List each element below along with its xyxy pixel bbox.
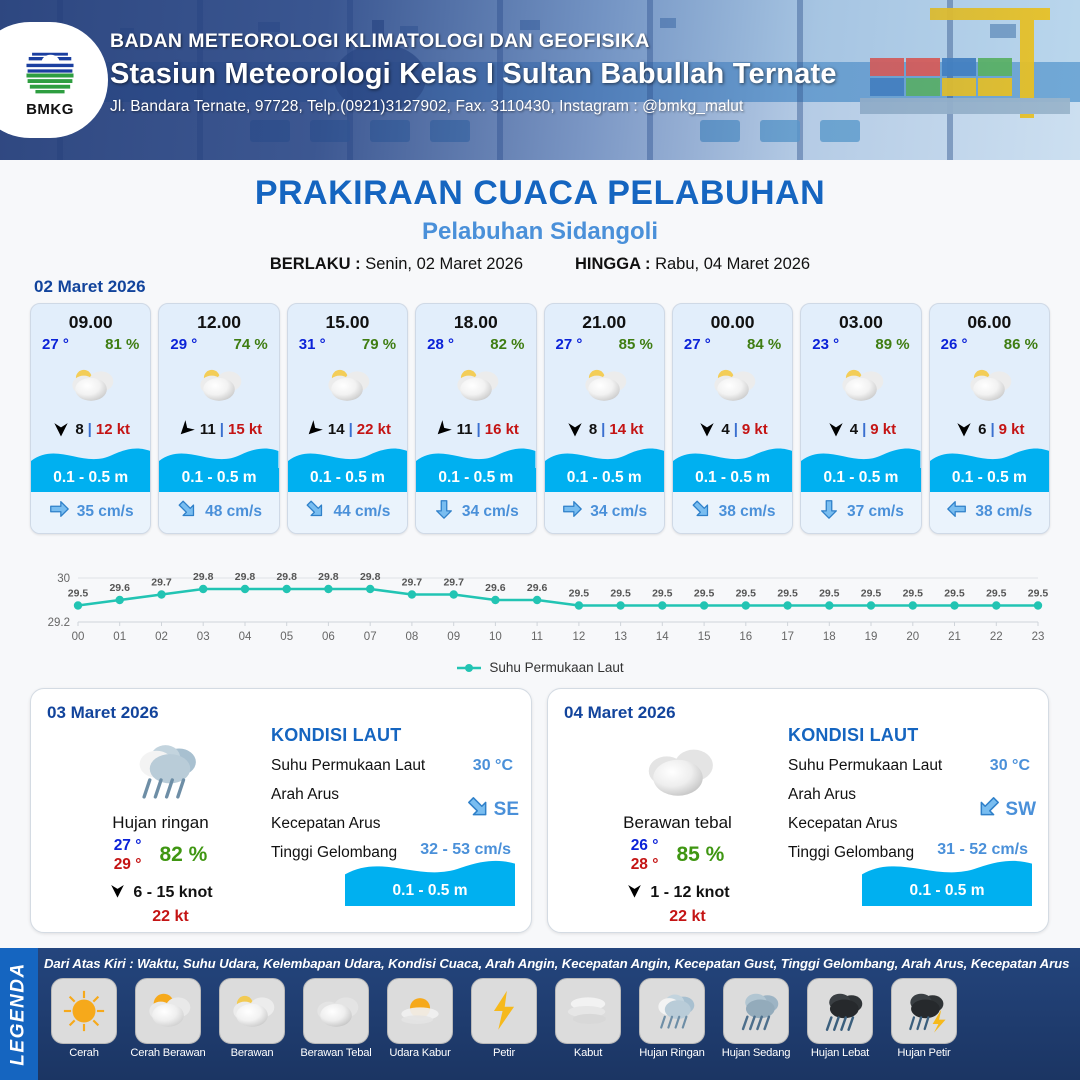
day-gust: 22 kt bbox=[73, 908, 268, 926]
card-time: 00.00 bbox=[673, 304, 792, 333]
card-wave-block: 0.1 - 0.5 m bbox=[673, 443, 792, 492]
svg-text:04: 04 bbox=[239, 631, 252, 643]
legend-icon-hujan-sedang bbox=[723, 978, 789, 1044]
day-weather-icon bbox=[53, 731, 268, 811]
svg-text:29.8: 29.8 bbox=[360, 571, 381, 583]
day-temp-min: 27 ° bbox=[114, 836, 142, 855]
card-wind-speed: 14 bbox=[328, 421, 345, 438]
svg-text:29.8: 29.8 bbox=[235, 571, 256, 583]
card-humidity: 85 % bbox=[619, 336, 653, 353]
svg-text:29.6: 29.6 bbox=[109, 582, 130, 594]
card-current: 35 cm/s bbox=[31, 492, 150, 533]
svg-text:29.5: 29.5 bbox=[736, 588, 757, 600]
card-temperature: 23 ° bbox=[812, 336, 839, 353]
card-current: 38 cm/s bbox=[673, 492, 792, 533]
card-wind-speed: 4 bbox=[850, 421, 858, 438]
card-gust: 16 kt bbox=[485, 421, 519, 438]
card-wave-height: 0.1 - 0.5 m bbox=[673, 468, 792, 492]
card-wind-speed: 11 bbox=[457, 421, 473, 438]
card-temp-humidity: 31 ° 79 % bbox=[288, 333, 407, 353]
svg-text:23: 23 bbox=[1032, 631, 1045, 643]
forecast-card: 06.00 26 ° 86 % 6 | 9 kt 0.1 - 0.5 m 38 … bbox=[929, 303, 1050, 534]
wind-direction-arrow-icon bbox=[108, 881, 127, 905]
card-current-speed: 38 cm/s bbox=[719, 503, 776, 521]
card-time: 18.00 bbox=[416, 304, 535, 333]
wind-direction-arrow-icon bbox=[697, 419, 717, 439]
svg-text:30: 30 bbox=[57, 573, 70, 585]
card-wave-block: 0.1 - 0.5 m bbox=[930, 443, 1049, 492]
svg-text:29.7: 29.7 bbox=[443, 577, 464, 589]
card-weather-icon bbox=[159, 357, 278, 413]
card-temp-humidity: 28 ° 82 % bbox=[416, 333, 535, 353]
agency-name: BADAN METEOROLOGI KLIMATOLOGI DAN GEOFIS… bbox=[110, 30, 837, 53]
forecast-card: 03.00 23 ° 89 % 4 | 9 kt 0.1 - 0.5 m 37 … bbox=[800, 303, 921, 534]
card-temp-humidity: 26 ° 86 % bbox=[930, 333, 1049, 353]
svg-text:09: 09 bbox=[447, 631, 460, 643]
day-temp-min: 26 ° bbox=[631, 836, 659, 855]
legend-item: Hujan Petir bbox=[884, 978, 964, 1059]
legend-icon-petir bbox=[471, 978, 537, 1044]
card-wave-block: 0.1 - 0.5 m bbox=[31, 443, 150, 492]
sst-value: 30 °C bbox=[990, 757, 1030, 775]
legend-item-label: Cerah Berawan bbox=[128, 1047, 208, 1059]
card-humidity: 74 % bbox=[234, 336, 268, 353]
svg-text:18: 18 bbox=[823, 631, 836, 643]
day-humidity: 82 % bbox=[159, 843, 207, 867]
page-header: BMKG BADAN METEOROLOGI KLIMATOLOGI DAN G… bbox=[0, 0, 1080, 160]
day-temps: 27 ° 29 ° 82 % bbox=[53, 836, 268, 875]
current-speed-label: Kecepatan Arus bbox=[788, 815, 897, 832]
card-wave-height: 0.1 - 0.5 m bbox=[801, 468, 920, 492]
card-current-speed: 48 cm/s bbox=[205, 503, 262, 521]
day-wind: 6 - 15 knot bbox=[53, 881, 268, 905]
current-direction-arrow-icon bbox=[946, 498, 968, 525]
daily-forecast-panel: 04 Maret 2026 Berawan tebal 26 ° 28 ° 85… bbox=[547, 688, 1049, 933]
current-direction-row: Arah Arus SE bbox=[271, 786, 519, 804]
legend-item: Cerah Berawan bbox=[128, 978, 208, 1059]
svg-text:00: 00 bbox=[72, 631, 85, 643]
forecast-card: 15.00 31 ° 79 % 14 | 22 kt 0.1 - 0.5 m 4… bbox=[287, 303, 408, 534]
card-humidity: 89 % bbox=[875, 336, 909, 353]
card-time: 15.00 bbox=[288, 304, 407, 333]
card-wind-separator: | bbox=[862, 421, 866, 438]
card-temp-humidity: 27 ° 84 % bbox=[673, 333, 792, 353]
wave-height-row: Tinggi Gelombang 0.1 - 0.5 m bbox=[271, 844, 519, 862]
svg-text:29.2: 29.2 bbox=[48, 617, 70, 629]
card-wind-separator: | bbox=[734, 421, 738, 438]
legend-item: Kabut bbox=[548, 978, 628, 1059]
legend-item-label: Hujan Sedang bbox=[716, 1047, 796, 1059]
legend-footer: LEGENDA Dari Atas Kiri : Waktu, Suhu Uda… bbox=[0, 948, 1080, 1080]
sea-conditions-title: KONDISI LAUT bbox=[271, 725, 519, 746]
card-current-speed: 35 cm/s bbox=[77, 503, 134, 521]
current-direction-label: Arah Arus bbox=[788, 786, 856, 803]
wind-direction-arrow-icon bbox=[51, 419, 71, 439]
svg-text:29.5: 29.5 bbox=[68, 588, 89, 600]
legend-icon-list: Cerah Cerah Berawan Berawan Berawan Teba… bbox=[44, 978, 1076, 1059]
card-humidity: 86 % bbox=[1004, 336, 1038, 353]
card-wind-speed: 8 bbox=[589, 421, 597, 438]
wave-height-badge: 0.1 - 0.5 m bbox=[862, 855, 1032, 906]
svg-text:19: 19 bbox=[865, 631, 878, 643]
legend-item-label: Cerah bbox=[44, 1047, 124, 1059]
valid-to-value: Rabu, 04 Maret 2026 bbox=[655, 255, 810, 273]
header-text-block: BADAN METEOROLOGI KLIMATOLOGI DAN GEOFIS… bbox=[110, 30, 837, 116]
card-wind: 4 | 9 kt bbox=[801, 413, 920, 443]
svg-text:29.5: 29.5 bbox=[903, 588, 924, 600]
day-date: 03 Maret 2026 bbox=[47, 703, 515, 723]
card-time: 12.00 bbox=[159, 304, 278, 333]
svg-text:17: 17 bbox=[781, 631, 794, 643]
station-name: Stasiun Meteorologi Kelas I Sultan Babul… bbox=[110, 58, 837, 91]
page-title: PRAKIRAAN CUACA PELABUHAN bbox=[0, 174, 1080, 213]
card-current: 48 cm/s bbox=[159, 492, 278, 533]
day-weather-icon bbox=[570, 731, 785, 811]
wind-direction-arrow-icon bbox=[625, 881, 644, 905]
current-direction-arrow-icon bbox=[176, 498, 198, 525]
svg-text:10: 10 bbox=[489, 631, 502, 643]
title-block: PRAKIRAAN CUACA PELABUHAN Pelabuhan Sida… bbox=[0, 160, 1080, 274]
card-wind: 11 | 16 kt bbox=[416, 413, 535, 443]
card-wind: 4 | 9 kt bbox=[673, 413, 792, 443]
card-humidity: 79 % bbox=[362, 336, 396, 353]
current-direction-arrow-icon bbox=[304, 498, 326, 525]
legend-item-label: Berawan Tebal bbox=[296, 1047, 376, 1059]
card-current: 37 cm/s bbox=[801, 492, 920, 533]
card-weather-icon bbox=[416, 357, 535, 413]
daily-forecast-panel: 03 Maret 2026 Hujan ringan 27 ° 29 ° 82 … bbox=[30, 688, 532, 933]
legend-item-label: Kabut bbox=[548, 1047, 628, 1059]
legend-item-label: Petir bbox=[464, 1047, 544, 1059]
card-wave-block: 0.1 - 0.5 m bbox=[416, 443, 535, 492]
card-current-speed: 37 cm/s bbox=[847, 503, 904, 521]
day-temps: 26 ° 28 ° 85 % bbox=[570, 836, 785, 875]
card-wind: 14 | 22 kt bbox=[288, 413, 407, 443]
card-temperature: 27 ° bbox=[556, 336, 583, 353]
card-wind: 6 | 9 kt bbox=[930, 413, 1049, 443]
card-wave-block: 0.1 - 0.5 m bbox=[159, 443, 278, 492]
legend-item: Cerah bbox=[44, 978, 124, 1059]
legend-icon-hujan-lebat bbox=[807, 978, 873, 1044]
card-wind-speed: 6 bbox=[978, 421, 986, 438]
legend-item: Berawan Tebal bbox=[296, 978, 376, 1059]
card-wave-height: 0.1 - 0.5 m bbox=[288, 468, 407, 492]
legend-icon-hujan-ringan bbox=[639, 978, 705, 1044]
card-humidity: 84 % bbox=[747, 336, 781, 353]
card-temperature: 28 ° bbox=[427, 336, 454, 353]
validity-range: BERLAKU : Senin, 02 Maret 2026 HINGGA : … bbox=[0, 255, 1080, 274]
wind-direction-arrow-icon bbox=[176, 419, 196, 439]
card-wind-speed: 8 bbox=[75, 421, 83, 438]
sst-value: 30 °C bbox=[473, 757, 513, 775]
svg-text:29.8: 29.8 bbox=[318, 571, 339, 583]
card-weather-icon bbox=[288, 357, 407, 413]
current-direction-arrow-icon bbox=[561, 498, 583, 525]
card-time: 09.00 bbox=[31, 304, 150, 333]
card-gust: 22 kt bbox=[357, 421, 391, 438]
current-direction-arrow-icon bbox=[690, 498, 712, 525]
svg-text:12: 12 bbox=[573, 631, 586, 643]
svg-text:08: 08 bbox=[406, 631, 419, 643]
sst-chart-plot: 3029.229.50029.60129.70229.80329.80429.8… bbox=[30, 560, 1050, 658]
svg-text:29.8: 29.8 bbox=[276, 571, 297, 583]
legend-icon-hujan-petir bbox=[891, 978, 957, 1044]
card-gust: 14 kt bbox=[609, 421, 643, 438]
wave-height-value: 0.1 - 0.5 m bbox=[345, 882, 515, 906]
sst-row: Suhu Permukaan Laut 30 °C bbox=[271, 757, 519, 775]
svg-text:11: 11 bbox=[531, 631, 543, 643]
wind-direction-arrow-icon bbox=[565, 419, 585, 439]
svg-text:03: 03 bbox=[197, 631, 210, 643]
card-weather-icon bbox=[673, 357, 792, 413]
legend-item: Hujan Lebat bbox=[800, 978, 880, 1059]
port-name: Pelabuhan Sidangoli bbox=[0, 218, 1080, 246]
legend-icon-udara-kabur bbox=[387, 978, 453, 1044]
day-date: 04 Maret 2026 bbox=[564, 703, 1032, 723]
day-condition: Berawan tebal bbox=[570, 813, 785, 833]
card-wave-height: 0.1 - 0.5 m bbox=[930, 468, 1049, 492]
svg-text:16: 16 bbox=[739, 631, 752, 643]
current-speed-label: Kecepatan Arus bbox=[271, 815, 380, 832]
day-wind-speed: 1 - 12 knot bbox=[650, 884, 729, 902]
card-temperature: 26 ° bbox=[941, 336, 968, 353]
bmkg-emblem-icon bbox=[22, 43, 78, 99]
card-temp-humidity: 27 ° 85 % bbox=[545, 333, 664, 353]
wave-height-value: 0.1 - 0.5 m bbox=[862, 882, 1032, 906]
forecast-card: 09.00 27 ° 81 % 8 | 12 kt 0.1 - 0.5 m 35… bbox=[30, 303, 151, 534]
chart-legend: Suhu Permukaan Laut bbox=[30, 660, 1050, 675]
forecast-card: 18.00 28 ° 82 % 11 | 16 kt 0.1 - 0.5 m 3… bbox=[415, 303, 536, 534]
card-time: 21.00 bbox=[545, 304, 664, 333]
card-temp-humidity: 23 ° 89 % bbox=[801, 333, 920, 353]
wind-direction-arrow-icon bbox=[433, 419, 453, 439]
bmkg-logo-text: BMKG bbox=[26, 101, 74, 118]
wind-direction-arrow-icon bbox=[826, 419, 846, 439]
legend-icon-berawan bbox=[219, 978, 285, 1044]
legend-item: Hujan Sedang bbox=[716, 978, 796, 1059]
legend-item: Berawan bbox=[212, 978, 292, 1059]
card-gust: 9 kt bbox=[870, 421, 896, 438]
card-current: 38 cm/s bbox=[930, 492, 1049, 533]
sst-row: Suhu Permukaan Laut 30 °C bbox=[788, 757, 1036, 775]
card-temp-humidity: 29 ° 74 % bbox=[159, 333, 278, 353]
legend-item-label: Hujan Lebat bbox=[800, 1047, 880, 1059]
card-wave-block: 0.1 - 0.5 m bbox=[288, 443, 407, 492]
current-direction-arrow-icon bbox=[433, 498, 455, 525]
card-wave-height: 0.1 - 0.5 m bbox=[416, 468, 535, 492]
card-wind: 8 | 12 kt bbox=[31, 413, 150, 443]
card-wave-block: 0.1 - 0.5 m bbox=[545, 443, 664, 492]
chart-legend-label: Suhu Permukaan Laut bbox=[489, 660, 623, 675]
sea-conditions-title: KONDISI LAUT bbox=[788, 725, 1036, 746]
sst-chart: 3029.229.50029.60129.70229.80329.80429.8… bbox=[30, 560, 1050, 680]
svg-text:05: 05 bbox=[280, 631, 293, 643]
card-wave-block: 0.1 - 0.5 m bbox=[801, 443, 920, 492]
wind-direction-arrow-icon bbox=[304, 419, 324, 439]
card-wind-separator: | bbox=[220, 421, 224, 438]
wave-height-badge: 0.1 - 0.5 m bbox=[345, 855, 515, 906]
card-wave-height: 0.1 - 0.5 m bbox=[545, 468, 664, 492]
card-wind-separator: | bbox=[477, 421, 481, 438]
forecast-card: 12.00 29 ° 74 % 11 | 15 kt 0.1 - 0.5 m 4… bbox=[158, 303, 279, 534]
card-temp-humidity: 27 ° 81 % bbox=[31, 333, 150, 353]
wind-direction-arrow-icon bbox=[954, 419, 974, 439]
card-weather-icon bbox=[31, 357, 150, 413]
card-wind-separator: | bbox=[88, 421, 92, 438]
card-gust: 15 kt bbox=[228, 421, 262, 438]
card-current-speed: 34 cm/s bbox=[590, 503, 647, 521]
day-wind-speed: 6 - 15 knot bbox=[133, 884, 212, 902]
svg-text:29.6: 29.6 bbox=[527, 582, 548, 594]
current-direction-arrow-icon bbox=[818, 498, 840, 525]
card-temperature: 27 ° bbox=[684, 336, 711, 353]
card-weather-icon bbox=[930, 357, 1049, 413]
svg-text:02: 02 bbox=[155, 631, 168, 643]
card-wind: 8 | 14 kt bbox=[545, 413, 664, 443]
legend-item-label: Udara Kabur bbox=[380, 1047, 460, 1059]
current-direction-row: Arah Arus SW bbox=[788, 786, 1036, 804]
day-temp-range: 27 ° 29 ° bbox=[114, 836, 142, 875]
svg-text:29.7: 29.7 bbox=[151, 577, 172, 589]
sst-label: Suhu Permukaan Laut bbox=[788, 757, 942, 774]
card-gust: 12 kt bbox=[96, 421, 130, 438]
legend-item-label: Hujan Petir bbox=[884, 1047, 964, 1059]
card-current-speed: 38 cm/s bbox=[975, 503, 1032, 521]
card-current: 34 cm/s bbox=[545, 492, 664, 533]
forecast-card: 21.00 27 ° 85 % 8 | 14 kt 0.1 - 0.5 m 34… bbox=[544, 303, 665, 534]
card-wind-speed: 4 bbox=[721, 421, 729, 438]
legend-note: Dari Atas Kiri : Waktu, Suhu Udara, Kele… bbox=[44, 956, 1074, 971]
day-humidity: 85 % bbox=[676, 843, 724, 867]
svg-text:29.5: 29.5 bbox=[652, 588, 673, 600]
legend-item: Petir bbox=[464, 978, 544, 1059]
svg-text:14: 14 bbox=[656, 631, 669, 643]
forecast-date-label: 02 Maret 2026 bbox=[34, 277, 146, 297]
svg-text:29.5: 29.5 bbox=[861, 588, 882, 600]
svg-text:29.5: 29.5 bbox=[1028, 588, 1049, 600]
svg-text:22: 22 bbox=[990, 631, 1003, 643]
svg-text:07: 07 bbox=[364, 631, 377, 643]
card-wind: 11 | 15 kt bbox=[159, 413, 278, 443]
svg-text:01: 01 bbox=[113, 631, 126, 643]
day-temp-range: 26 ° 28 ° bbox=[631, 836, 659, 875]
svg-text:29.7: 29.7 bbox=[402, 577, 423, 589]
day-gust: 22 kt bbox=[590, 908, 785, 926]
wave-height-row: Tinggi Gelombang 0.1 - 0.5 m bbox=[788, 844, 1036, 862]
current-direction-label: Arah Arus bbox=[271, 786, 339, 803]
hourly-forecast-row: 09.00 27 ° 81 % 8 | 12 kt 0.1 - 0.5 m 35… bbox=[30, 303, 1050, 534]
sea-conditions: KONDISI LAUT Suhu Permukaan Laut 30 °C A… bbox=[788, 725, 1036, 862]
valid-from-value: Senin, 02 Maret 2026 bbox=[365, 255, 523, 273]
legend-item: Udara Kabur bbox=[380, 978, 460, 1059]
station-contact: Jl. Bandara Ternate, 97728, Telp.(0921)3… bbox=[110, 98, 837, 116]
card-current-speed: 44 cm/s bbox=[333, 503, 390, 521]
legend-item: Hujan Ringan bbox=[632, 978, 712, 1059]
svg-text:29.5: 29.5 bbox=[694, 588, 715, 600]
svg-text:29.5: 29.5 bbox=[819, 588, 840, 600]
card-current: 34 cm/s bbox=[416, 492, 535, 533]
svg-text:29.5: 29.5 bbox=[986, 588, 1007, 600]
card-humidity: 82 % bbox=[490, 336, 524, 353]
day-condition: Hujan ringan bbox=[53, 813, 268, 833]
card-wind-separator: | bbox=[990, 421, 994, 438]
svg-text:15: 15 bbox=[698, 631, 711, 643]
legend-icon-cerah-berawan bbox=[135, 978, 201, 1044]
svg-text:29.5: 29.5 bbox=[944, 588, 965, 600]
day-summary: Berawan tebal 26 ° 28 ° 85 % 1 - 12 knot… bbox=[570, 731, 785, 926]
day-temp-max: 29 ° bbox=[114, 855, 142, 874]
current-speed-row: Kecepatan Arus 32 - 53 cm/s bbox=[271, 815, 519, 833]
card-gust: 9 kt bbox=[999, 421, 1025, 438]
day-temp-max: 28 ° bbox=[631, 855, 659, 874]
card-weather-icon bbox=[801, 357, 920, 413]
current-speed-row: Kecepatan Arus 31 - 52 cm/s bbox=[788, 815, 1036, 833]
current-direction-arrow-icon bbox=[48, 498, 70, 525]
forecast-card: 00.00 27 ° 84 % 4 | 9 kt 0.1 - 0.5 m 38 … bbox=[672, 303, 793, 534]
svg-text:06: 06 bbox=[322, 631, 335, 643]
daily-forecast-panels: 03 Maret 2026 Hujan ringan 27 ° 29 ° 82 … bbox=[30, 688, 1050, 933]
card-wave-height: 0.1 - 0.5 m bbox=[31, 468, 150, 492]
day-summary: Hujan ringan 27 ° 29 ° 82 % 6 - 15 knot … bbox=[53, 731, 268, 926]
svg-text:13: 13 bbox=[614, 631, 627, 643]
card-time: 03.00 bbox=[801, 304, 920, 333]
sea-conditions: KONDISI LAUT Suhu Permukaan Laut 30 °C A… bbox=[271, 725, 519, 862]
valid-to-label: HINGGA : bbox=[575, 255, 650, 273]
card-wind-speed: 11 bbox=[200, 421, 216, 438]
card-current-speed: 34 cm/s bbox=[462, 503, 519, 521]
card-wave-height: 0.1 - 0.5 m bbox=[159, 468, 278, 492]
legend-item-label: Hujan Ringan bbox=[632, 1047, 712, 1059]
legenda-title: LEGENDA bbox=[8, 962, 30, 1065]
card-wind-separator: | bbox=[601, 421, 605, 438]
card-humidity: 81 % bbox=[105, 336, 139, 353]
svg-text:29.5: 29.5 bbox=[777, 588, 798, 600]
card-temperature: 27 ° bbox=[42, 336, 69, 353]
legend-icon-cerah bbox=[51, 978, 117, 1044]
legend-item-label: Berawan bbox=[212, 1047, 292, 1059]
svg-text:21: 21 bbox=[948, 631, 961, 643]
card-current: 44 cm/s bbox=[288, 492, 407, 533]
svg-text:20: 20 bbox=[906, 631, 919, 643]
card-temperature: 31 ° bbox=[299, 336, 326, 353]
svg-text:29.8: 29.8 bbox=[193, 571, 214, 583]
valid-from-label: BERLAKU : bbox=[270, 255, 361, 273]
legenda-sidebar: LEGENDA bbox=[0, 948, 38, 1080]
svg-text:29.5: 29.5 bbox=[610, 588, 631, 600]
card-time: 06.00 bbox=[930, 304, 1049, 333]
svg-text:29.5: 29.5 bbox=[569, 588, 590, 600]
day-wind: 1 - 12 knot bbox=[570, 881, 785, 905]
card-weather-icon bbox=[545, 357, 664, 413]
legend-icon-berawan-tebal bbox=[303, 978, 369, 1044]
card-gust: 9 kt bbox=[742, 421, 768, 438]
svg-text:29.6: 29.6 bbox=[485, 582, 506, 594]
chart-legend-marker-icon bbox=[456, 662, 482, 674]
card-wind-separator: | bbox=[349, 421, 353, 438]
card-temperature: 29 ° bbox=[170, 336, 197, 353]
sst-label: Suhu Permukaan Laut bbox=[271, 757, 425, 774]
legend-icon-kabut bbox=[555, 978, 621, 1044]
